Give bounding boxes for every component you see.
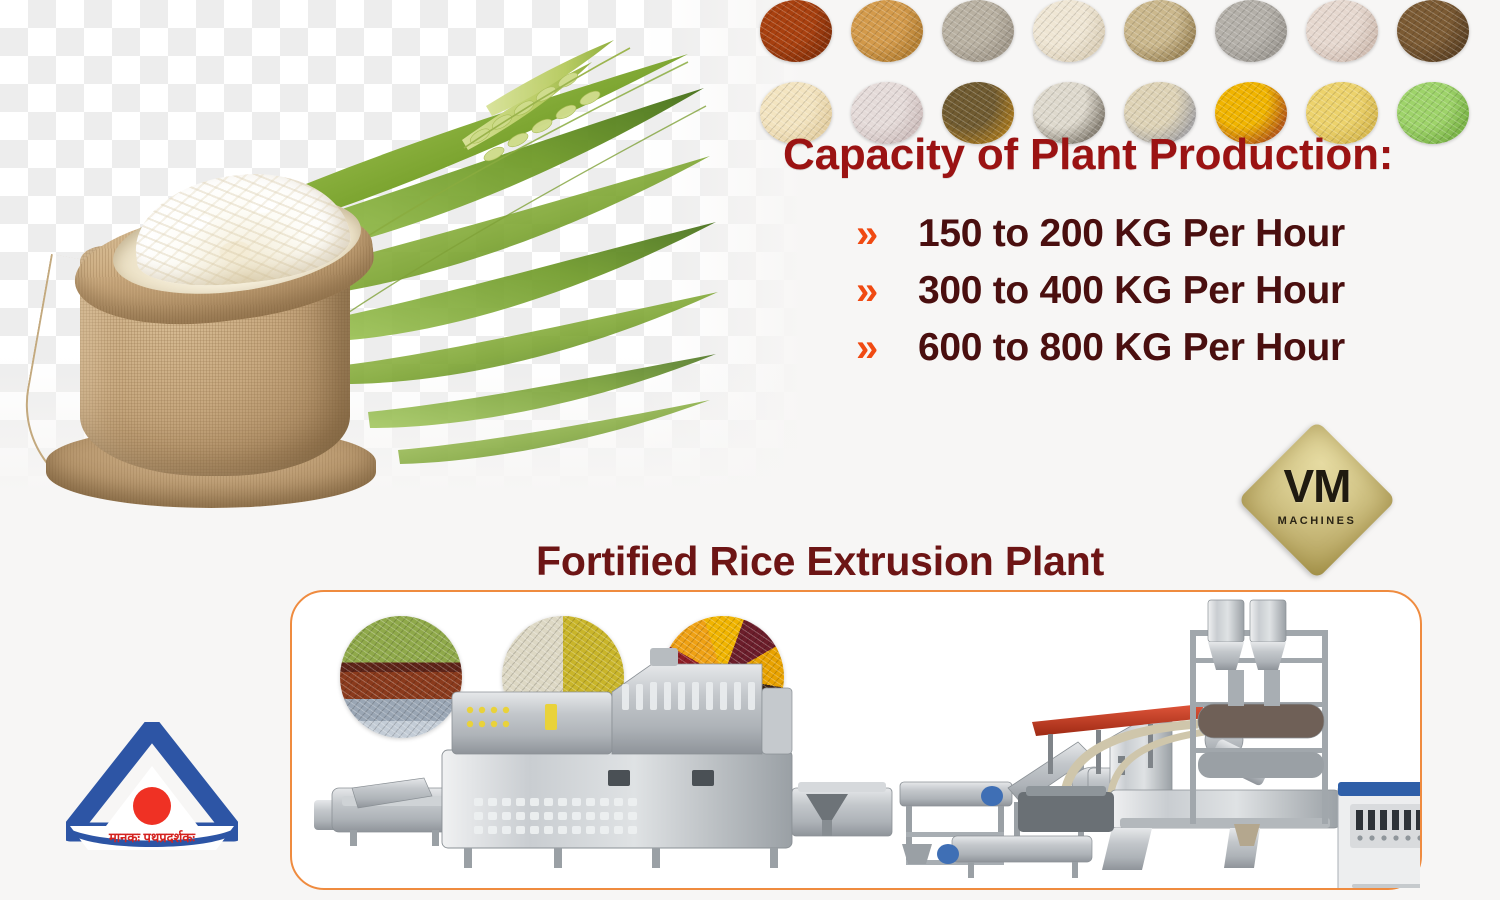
plant-title: Fortified Rice Extrusion Plant bbox=[536, 538, 1104, 585]
feeder-motor bbox=[937, 844, 959, 864]
grain-swatch-white-rice bbox=[1033, 0, 1105, 62]
vm-machines-logo: VM MACHINES bbox=[1242, 425, 1392, 575]
rice-bag-hero-image bbox=[18, 36, 438, 496]
bis-isi-standard-mark: मानकः पथप्रदर्शकः bbox=[66, 722, 238, 854]
grain-swatch-mixed-grey-rice bbox=[942, 0, 1014, 62]
bis-red-dot bbox=[133, 787, 171, 825]
machine-red-belt-conveyor bbox=[412, 878, 772, 888]
grain-swatch-green-rice bbox=[1397, 82, 1469, 144]
swatch-row-1 bbox=[760, 0, 1500, 62]
red-overhead-conveyor bbox=[1032, 704, 1206, 736]
double-chevron-icon: » bbox=[856, 271, 902, 311]
poster-canvas: Capacity of Plant Production: » 150 to 2… bbox=[0, 0, 1500, 900]
extruder-gearbox bbox=[1018, 792, 1114, 832]
grain-swatch-speckled-grain bbox=[1124, 0, 1196, 62]
production-line-panel bbox=[290, 590, 1422, 890]
grain-swatch-red-brown-grain bbox=[760, 0, 832, 62]
fortified-rice-extrusion-production-line bbox=[292, 592, 1420, 888]
drive-motor bbox=[981, 786, 1003, 806]
ribbon-mixer-drum bbox=[1198, 704, 1324, 738]
machine-microwave-drying-tunnel bbox=[442, 648, 792, 868]
capacity-item: » 300 to 400 KG Per Hour bbox=[856, 262, 1345, 319]
bis-motto-text: मानकः पथप्रदर्शकः bbox=[108, 830, 196, 845]
logo-monogram: VM bbox=[1242, 463, 1392, 509]
machine-gantry-conveyor bbox=[330, 854, 1420, 888]
capacity-item-label: 600 to 800 KG Per Hour bbox=[918, 326, 1345, 370]
grain-swatch-grey-pellets bbox=[1215, 0, 1287, 62]
grain-swatch-golden-lentils bbox=[851, 0, 923, 62]
capacity-item: » 600 to 800 KG Per Hour bbox=[856, 319, 1345, 376]
grain-variety-swatch-strip bbox=[760, 0, 1500, 118]
jute-rice-sack bbox=[38, 141, 378, 501]
capacity-item-label: 150 to 200 KG Per Hour bbox=[918, 212, 1345, 256]
capacity-item: » 150 to 200 KG Per Hour bbox=[856, 205, 1345, 262]
capacity-item-label: 300 to 400 KG Per Hour bbox=[918, 269, 1345, 313]
machine-electrical-control-panel bbox=[1338, 782, 1420, 888]
pre-conditioner-tray bbox=[952, 836, 1092, 862]
double-chevron-icon: » bbox=[856, 328, 902, 368]
capacity-heading: Capacity of Plant Production: bbox=[783, 130, 1393, 180]
capacity-list: » 150 to 200 KG Per Hour » 300 to 400 KG… bbox=[856, 205, 1345, 376]
grain-swatch-pale-pink-rice bbox=[1306, 0, 1378, 62]
grain-swatch-dark-brown-seed bbox=[1397, 0, 1469, 62]
right-section-assembly bbox=[902, 600, 1420, 888]
machine-vibrating-feeder bbox=[792, 782, 892, 836]
logo-subtitle: MACHINES bbox=[1242, 515, 1392, 527]
double-chevron-icon: » bbox=[856, 214, 902, 254]
